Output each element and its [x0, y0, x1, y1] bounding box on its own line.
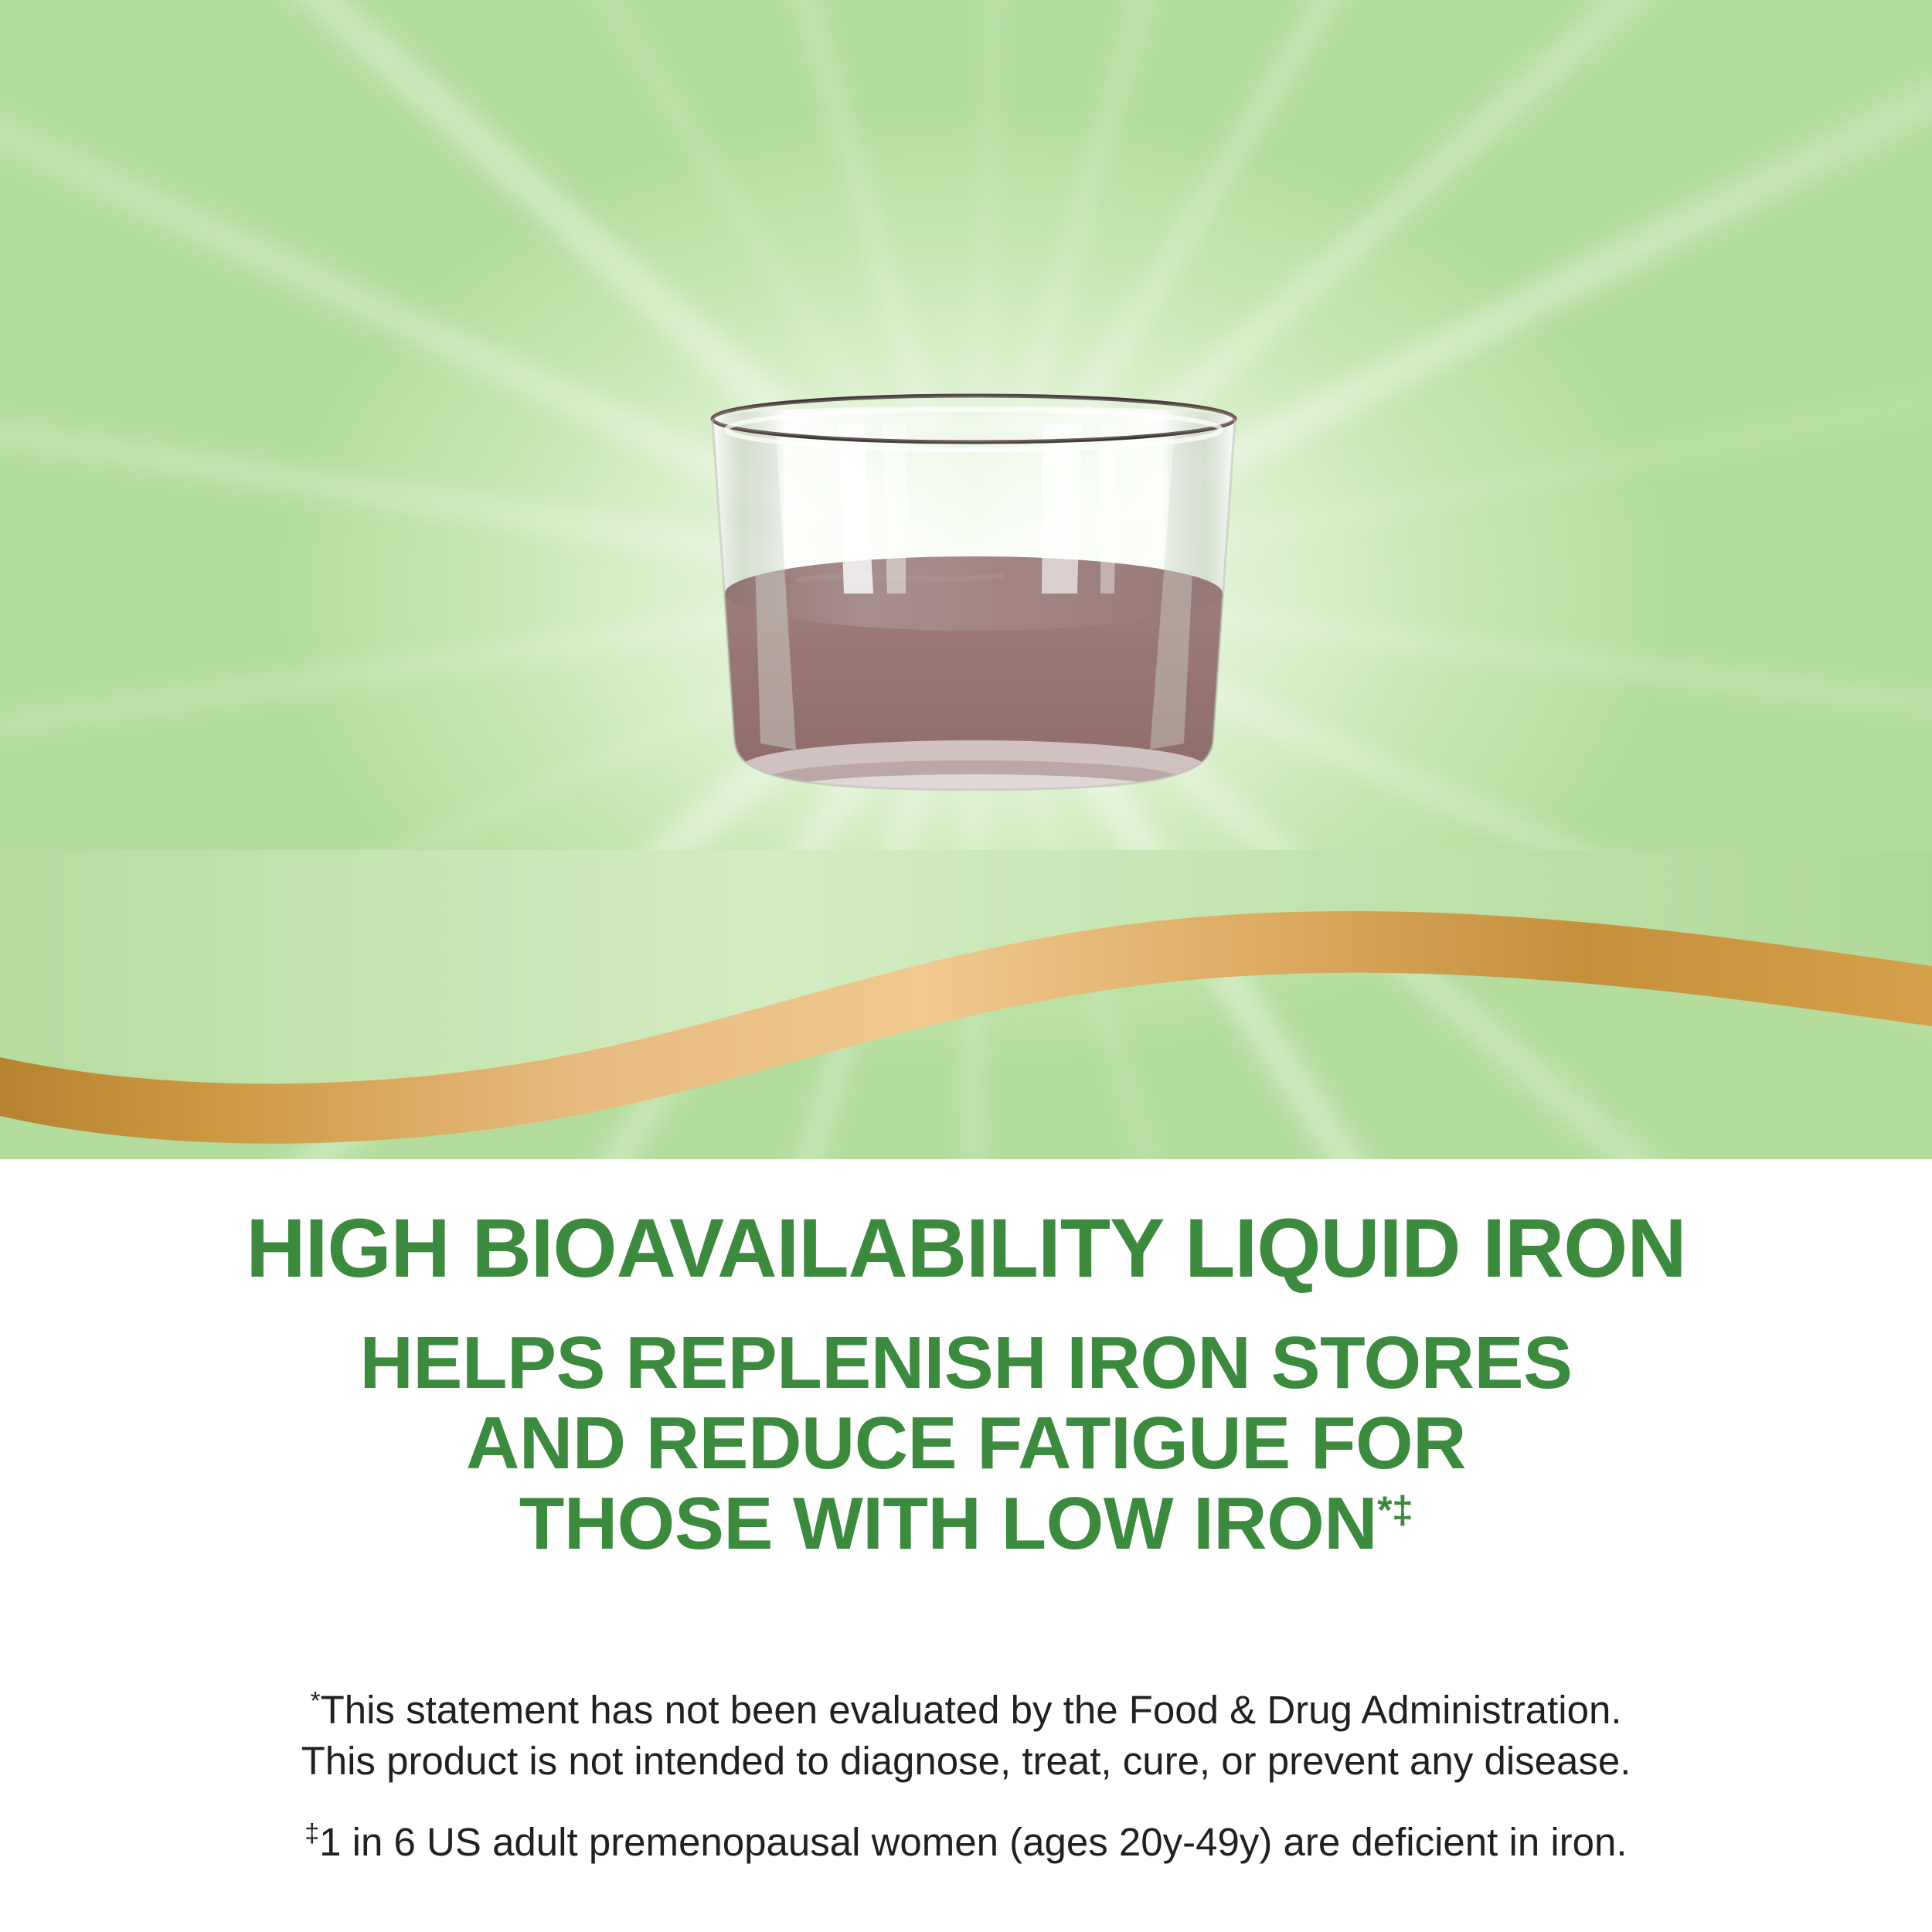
- disclaimer-fda-line-2: This product is not intended to diagnose…: [0, 1736, 1932, 1787]
- copy-block: HIGH BIOAVAILABILITY LIQUID IRON HELPS R…: [0, 1206, 1932, 1563]
- disclaimer-fda-line-1: *This statement has not been evaluated b…: [0, 1685, 1932, 1736]
- disclaimer-stat-line-text: 1 in 6 US adult premenopausal women (age…: [319, 1820, 1627, 1864]
- bowl-rim-inner: [713, 396, 1235, 442]
- disclaimer-spacer: [0, 1787, 1932, 1817]
- disclaimer-stat-line: ‡1 in 6 US adult premenopausal women (ag…: [0, 1817, 1932, 1868]
- disclaimer-dagger-symbol: ‡: [304, 1819, 319, 1848]
- page-title: HIGH BIOAVAILABILITY LIQUID IRON: [10, 1206, 1923, 1291]
- marketing-banner: HIGH BIOAVAILABILITY LIQUID IRON HELPS R…: [0, 0, 1932, 1932]
- subheadline-footnote-symbols: *‡: [1377, 1488, 1413, 1532]
- subheadline-line-1: HELPS REPLENISH IRON STORES: [0, 1323, 1932, 1403]
- subheadline-line-3-text: THOSE WITH LOW IRON: [519, 1482, 1377, 1565]
- subheadline-line-2: AND REDUCE FATIGUE FOR: [0, 1403, 1932, 1484]
- subheadline: HELPS REPLENISH IRON STORES AND REDUCE F…: [0, 1323, 1932, 1563]
- disclaimer-fda-line-1-text: This statement has not been evaluated by…: [321, 1688, 1622, 1732]
- glass-bowl-icon: [680, 386, 1267, 804]
- hero-section: [0, 0, 1932, 1159]
- subheadline-line-3: THOSE WITH LOW IRON*‡: [0, 1484, 1932, 1564]
- disclaimer-asterisk-symbol: *: [310, 1687, 320, 1716]
- disclaimer-block: *This statement has not been evaluated b…: [0, 1685, 1932, 1868]
- bowl-base-highlight: [742, 740, 1206, 802]
